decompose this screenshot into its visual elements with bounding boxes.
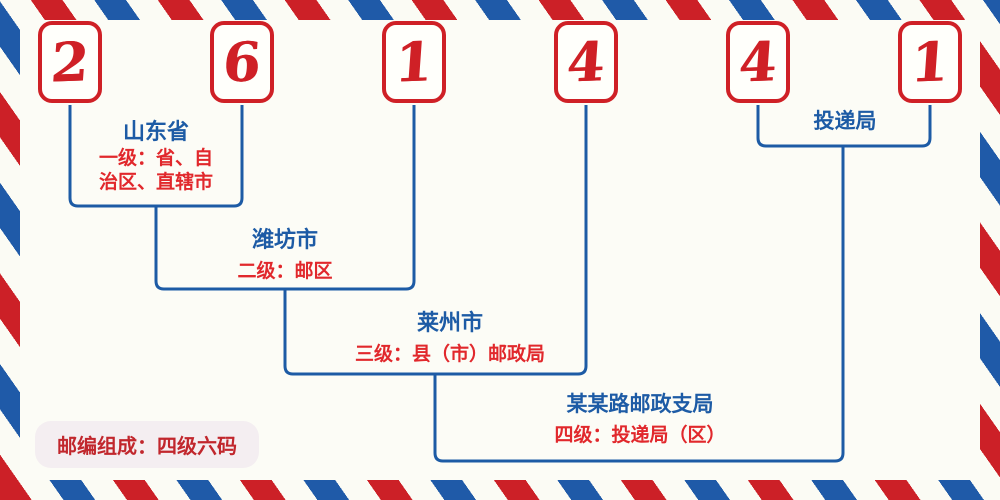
digit-box-4[interactable]: 4 <box>554 21 618 103</box>
label-level-4-name: 某某路邮政支局 <box>500 388 780 418</box>
airmail-envelope-frame: 2 6 1 4 4 1 山东省 一级：省、自 治区、直辖市 潍坊市 二级：邮区 … <box>0 0 1000 500</box>
digit-box-3[interactable]: 1 <box>382 21 446 103</box>
label-level-1-desc-line2: 治区、直辖市 <box>66 172 246 194</box>
digit-glyph-5: 4 <box>737 34 778 89</box>
label-level-4-desc: 四级：投递局（区） <box>500 420 780 447</box>
digit-box-5[interactable]: 4 <box>726 21 790 103</box>
digit-box-6[interactable]: 1 <box>898 21 962 103</box>
label-level-1: 山东省 一级：省、自 治区、直辖市 <box>66 114 246 194</box>
label-delivery-office: 投递局 <box>775 105 915 135</box>
bracket-level-1 <box>70 192 242 206</box>
digit-box-1[interactable]: 2 <box>38 21 102 103</box>
postcode-composition-badge: 邮编组成：四级六码 <box>35 421 259 468</box>
bracket-level-4 <box>435 447 843 461</box>
label-level-4: 某某路邮政支局 四级：投递局（区） <box>500 388 780 447</box>
digit-box-2[interactable]: 6 <box>210 21 274 103</box>
digit-glyph-2: 6 <box>221 34 262 89</box>
digit-glyph-3: 1 <box>393 34 434 89</box>
digit-glyph-6: 1 <box>909 34 950 89</box>
label-delivery-office-name: 投递局 <box>775 105 915 135</box>
digit-glyph-4: 4 <box>565 34 606 89</box>
postcode-diagram: 2 6 1 4 4 1 山东省 一级：省、自 治区、直辖市 潍坊市 二级：邮区 … <box>0 0 1000 500</box>
label-level-2-name: 潍坊市 <box>195 222 375 254</box>
label-level-2: 潍坊市 二级：邮区 <box>195 222 375 283</box>
label-level-1-desc-line1: 一级：省、自 <box>66 148 246 170</box>
label-level-3: 莱州市 三级：县（市）邮政局 <box>320 305 580 366</box>
label-level-3-name: 莱州市 <box>320 305 580 337</box>
label-level-1-name: 山东省 <box>66 114 246 146</box>
label-level-3-desc: 三级：县（市）邮政局 <box>320 339 580 366</box>
label-level-2-desc: 二级：邮区 <box>195 256 375 283</box>
digit-glyph-1: 2 <box>49 34 90 89</box>
